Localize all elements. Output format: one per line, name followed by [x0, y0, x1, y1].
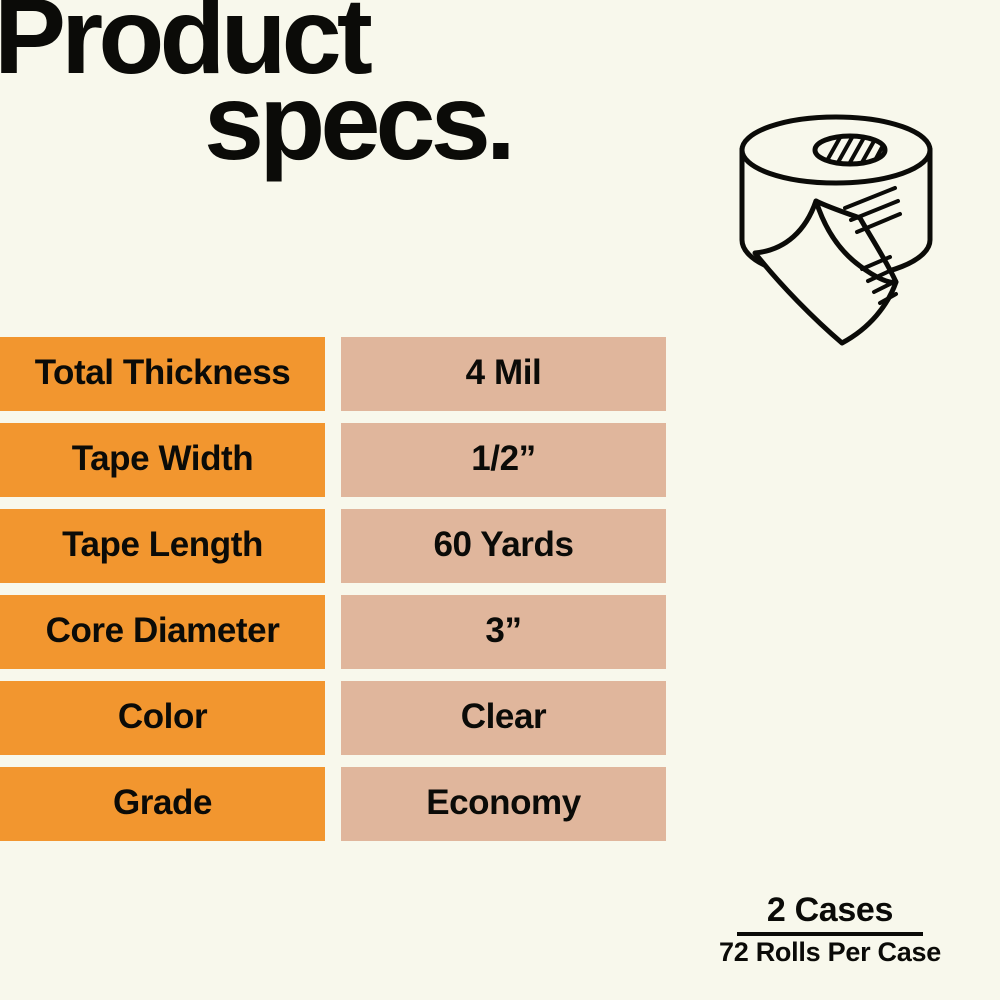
- tape-roll-icon: [720, 100, 970, 350]
- table-row: Grade Economy: [0, 767, 680, 841]
- spec-value-cell: 3”: [341, 595, 666, 669]
- spec-label-cell: Color: [0, 681, 325, 755]
- case-quantity-footer: 2 Cases 72 Rolls Per Case: [700, 893, 960, 967]
- spec-label-text: Tape Width: [72, 439, 253, 479]
- spec-label-text: Total Thickness: [35, 353, 291, 393]
- column-gap: [325, 767, 341, 841]
- column-gap: [325, 681, 341, 755]
- spec-value-text: 3”: [485, 611, 521, 651]
- page-title: Product specs.: [0, 0, 640, 200]
- column-gap: [325, 337, 341, 411]
- spec-value-cell: 60 Yards: [341, 509, 666, 583]
- rolls-per-case-text: 72 Rolls Per Case: [700, 938, 960, 968]
- table-row: Core Diameter 3”: [0, 595, 680, 669]
- spec-value-cell: 4 Mil: [341, 337, 666, 411]
- page-title-line-2: specs.: [204, 76, 511, 169]
- spec-value-text: Economy: [426, 783, 581, 823]
- spec-label-cell: Tape Width: [0, 423, 325, 497]
- case-count-text: 2 Cases: [700, 893, 960, 929]
- specs-table: Total Thickness 4 Mil Tape Width 1/2” Ta…: [0, 337, 680, 841]
- spec-label-text: Grade: [113, 783, 212, 823]
- tape-roll-drawing: [720, 100, 970, 350]
- table-row: Color Clear: [0, 681, 680, 755]
- spec-label-text: Tape Length: [62, 525, 263, 565]
- spec-label-text: Core Diameter: [46, 611, 280, 651]
- table-row: Tape Length 60 Yards: [0, 509, 680, 583]
- column-gap: [325, 423, 341, 497]
- spec-label-cell: Total Thickness: [0, 337, 325, 411]
- table-row: Tape Width 1/2”: [0, 423, 680, 497]
- column-gap: [325, 509, 341, 583]
- spec-value-text: Clear: [461, 697, 546, 737]
- spec-label-cell: Grade: [0, 767, 325, 841]
- spec-value-text: 4 Mil: [466, 353, 542, 393]
- product-specs-page: Product specs.: [0, 0, 1000, 1000]
- spec-value-text: 1/2”: [471, 439, 535, 479]
- table-row: Total Thickness 4 Mil: [0, 337, 680, 411]
- spec-value-cell: Clear: [341, 681, 666, 755]
- fraction-divider: [737, 932, 923, 936]
- spec-value-cell: Economy: [341, 767, 666, 841]
- spec-label-cell: Core Diameter: [0, 595, 325, 669]
- spec-label-text: Color: [118, 697, 207, 737]
- spec-value-text: 60 Yards: [433, 525, 573, 565]
- spec-label-cell: Tape Length: [0, 509, 325, 583]
- column-gap: [325, 595, 341, 669]
- spec-value-cell: 1/2”: [341, 423, 666, 497]
